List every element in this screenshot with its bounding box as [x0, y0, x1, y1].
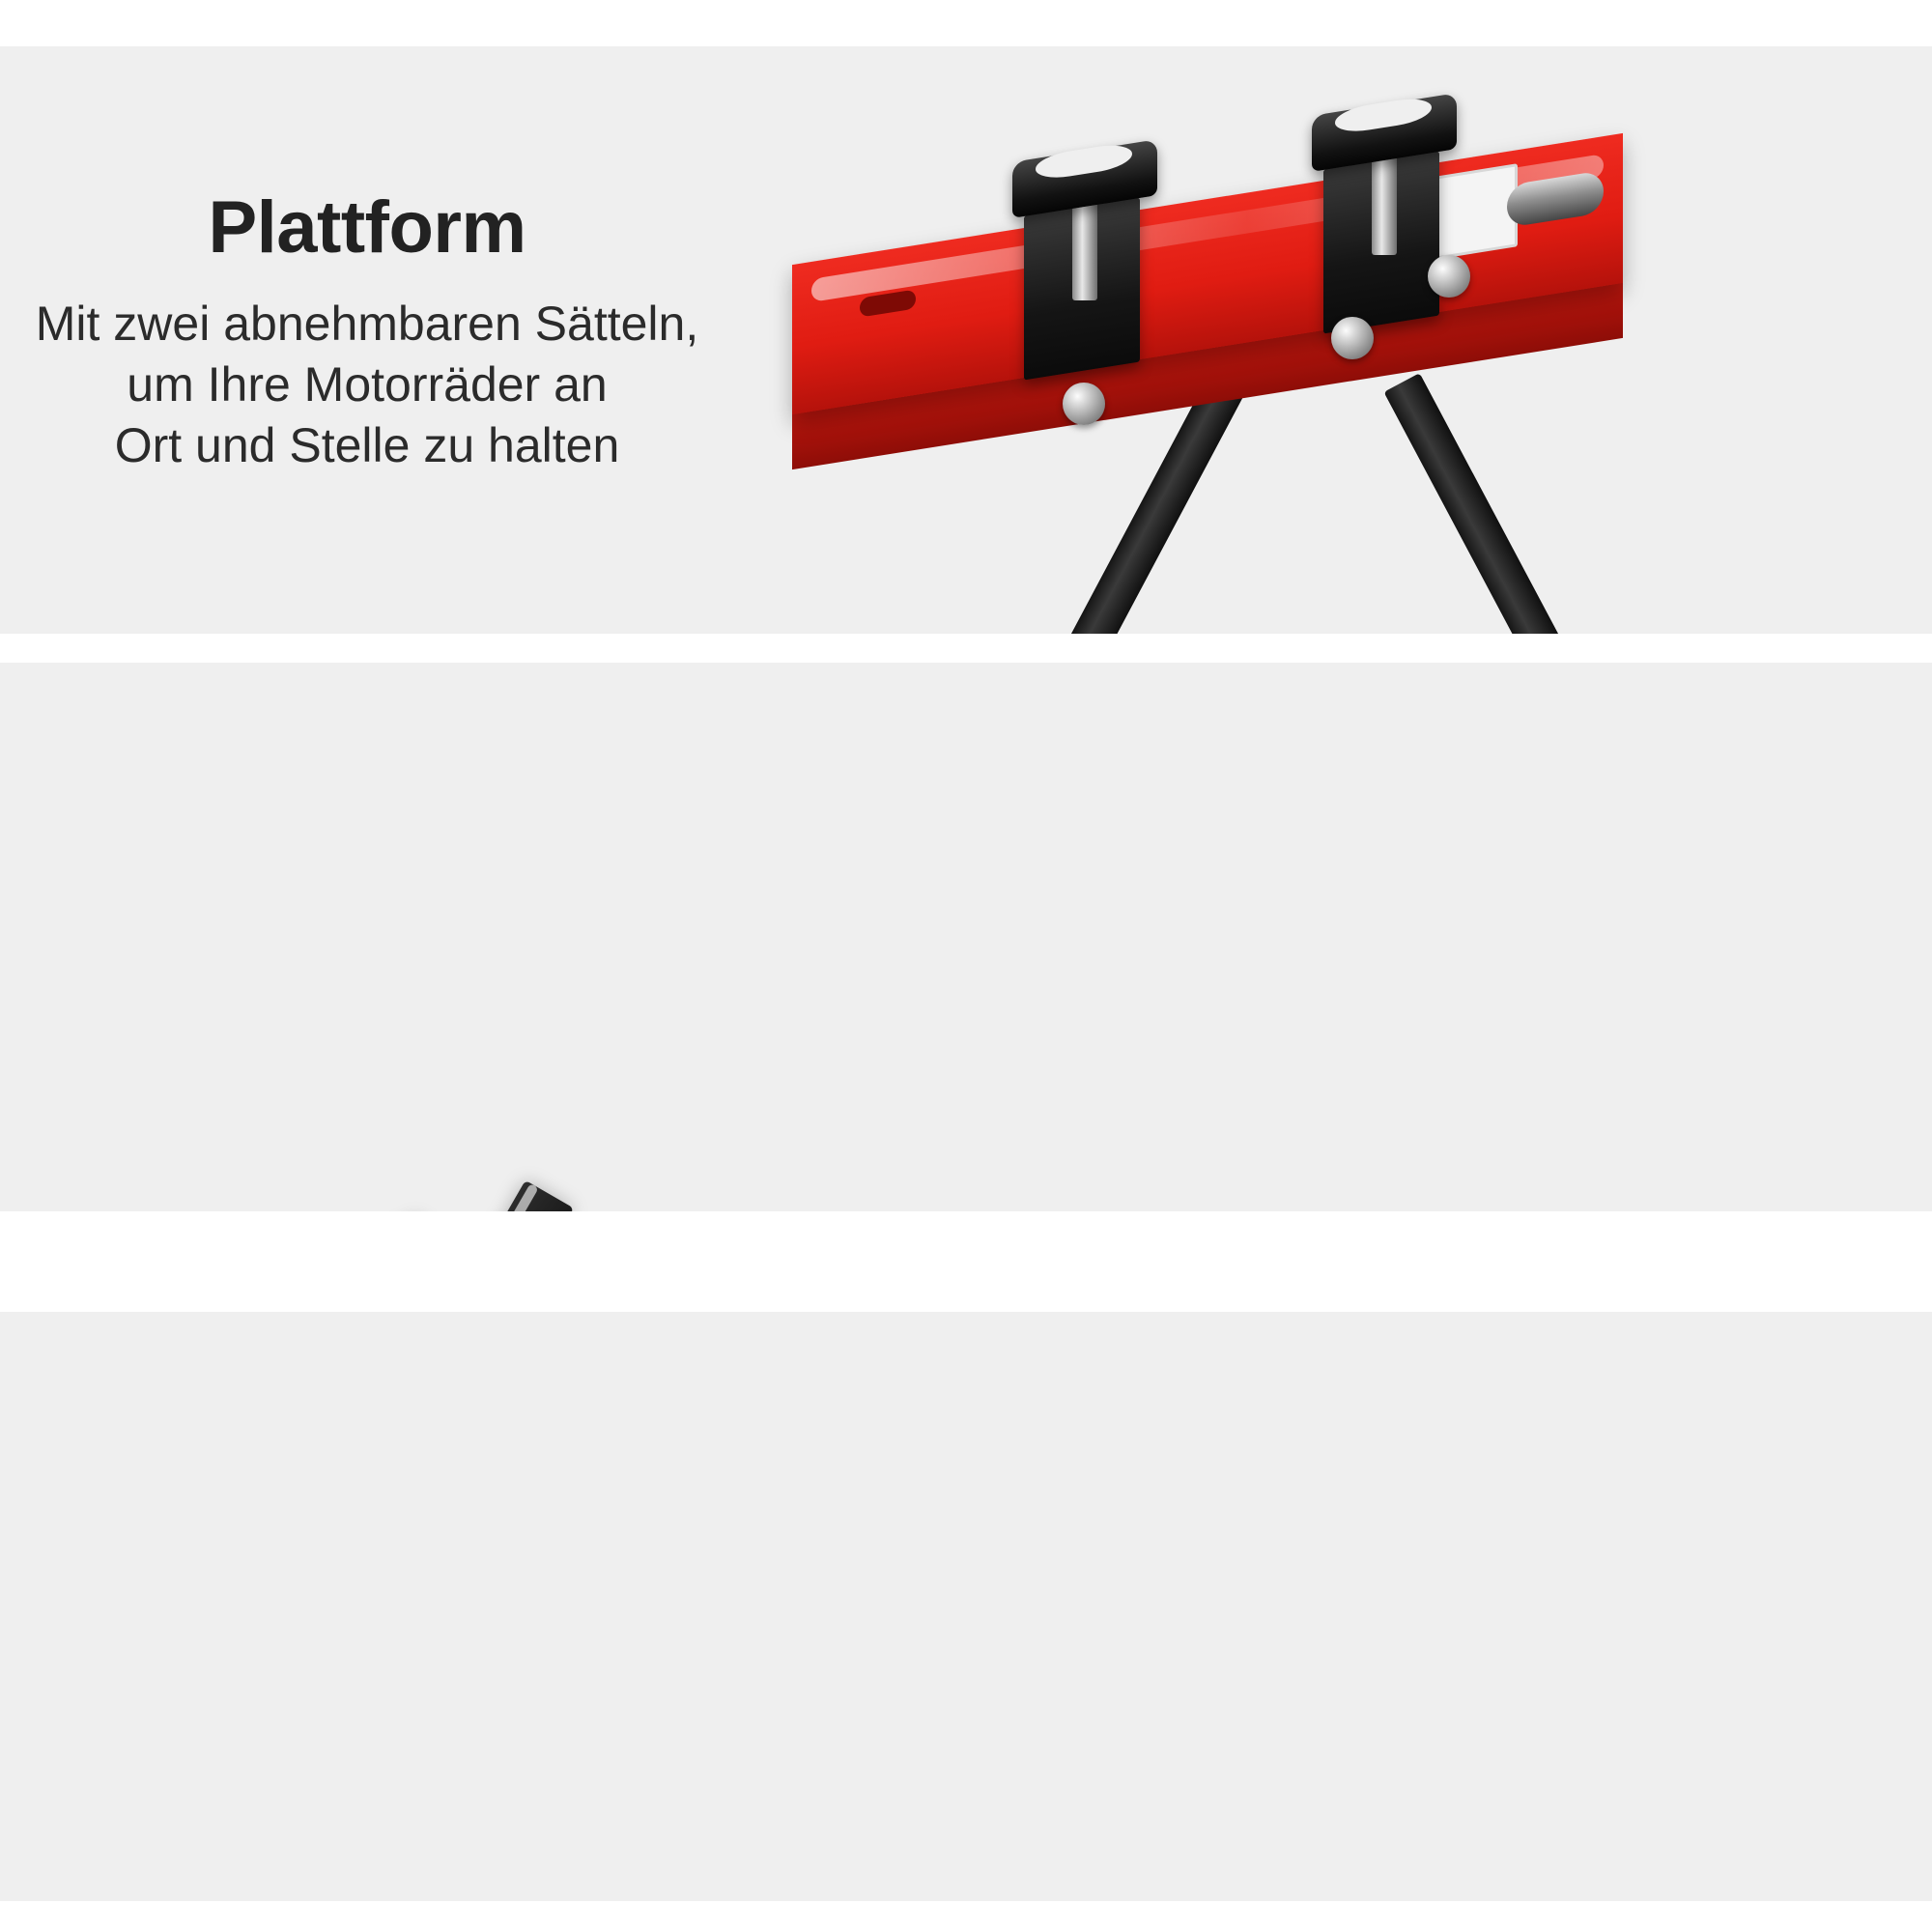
feature-panel-platform: Plattform Mit zwei abnehmbaren Sätteln,u…	[0, 46, 1932, 634]
infographic-sheet: Plattform Mit zwei abnehmbaren Sätteln,u…	[0, 0, 1932, 1932]
scissor-leg-right-icon	[1383, 373, 1569, 634]
feature-panel-lift-arms: Hebearme Stabile Scherenhubarmebieten zu…	[0, 663, 1932, 1211]
panel-headline-platform: Plattform	[0, 191, 734, 265]
product-image-platform	[966, 93, 1932, 634]
panel-subtext-platform: Mit zwei abnehmbaren Sätteln,um Ihre Mot…	[0, 294, 734, 476]
wing-knob-icon	[1428, 255, 1470, 298]
lift-arm-inner	[62, 1180, 574, 1211]
wing-knob-icon	[1063, 383, 1105, 425]
saddle-post-rear	[1372, 149, 1397, 255]
feature-panel-removable-handle: HomCom AbnehmbarerHandgriff Drehen Sie i…	[0, 1312, 1932, 1901]
wing-knob-icon	[1331, 317, 1374, 359]
saddle-post-front	[1072, 194, 1097, 300]
feature-text-platform: Plattform Mit zwei abnehmbaren Sätteln,u…	[0, 191, 734, 476]
